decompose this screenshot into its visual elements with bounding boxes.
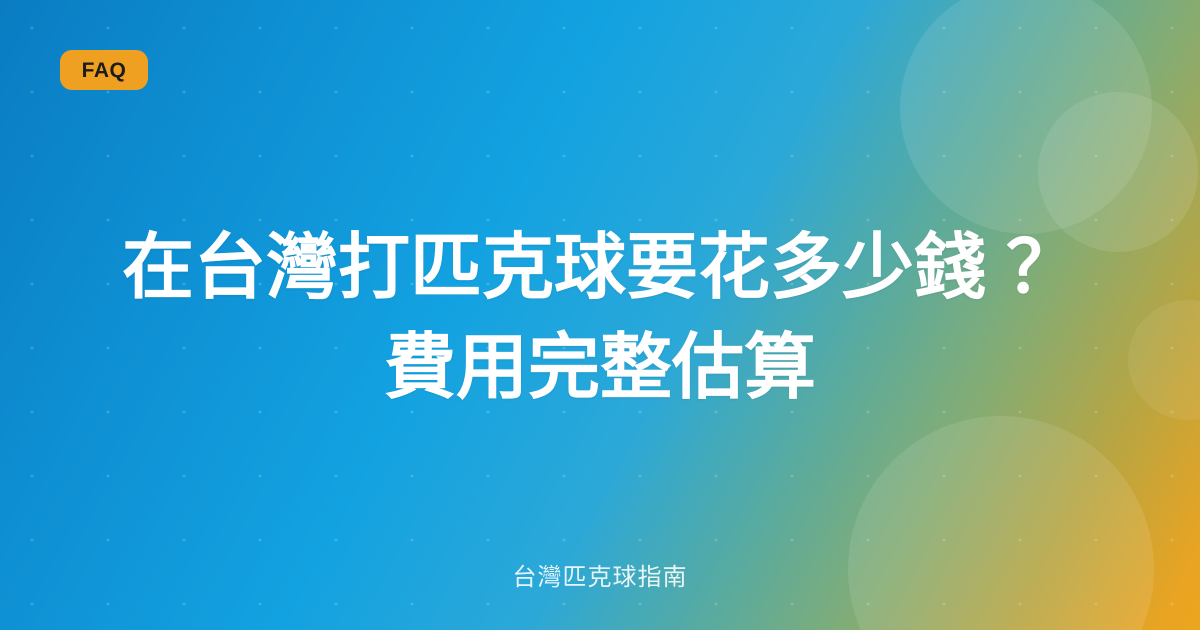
page-title: 在台灣打匹克球要花多少錢 ？ 費用完整估算 <box>0 218 1200 418</box>
decorative-circle-top-right-large <box>900 0 1152 234</box>
site-name-label: 台灣匹克球指南 <box>513 564 688 591</box>
site-name-footer: 台灣匹克球指南 <box>0 562 1200 594</box>
page-title-line-2: 費用完整估算 <box>48 318 1152 418</box>
faq-badge: FAQ <box>60 50 148 90</box>
page-title-line-1: 在台灣打匹克球要花多少錢 ？ <box>48 218 1152 318</box>
faq-share-card: FAQ 在台灣打匹克球要花多少錢 ？ 費用完整估算 台灣匹克球指南 <box>0 0 1200 630</box>
decorative-circle-bottom-right-large <box>848 416 1154 630</box>
faq-badge-label: FAQ <box>82 60 127 81</box>
